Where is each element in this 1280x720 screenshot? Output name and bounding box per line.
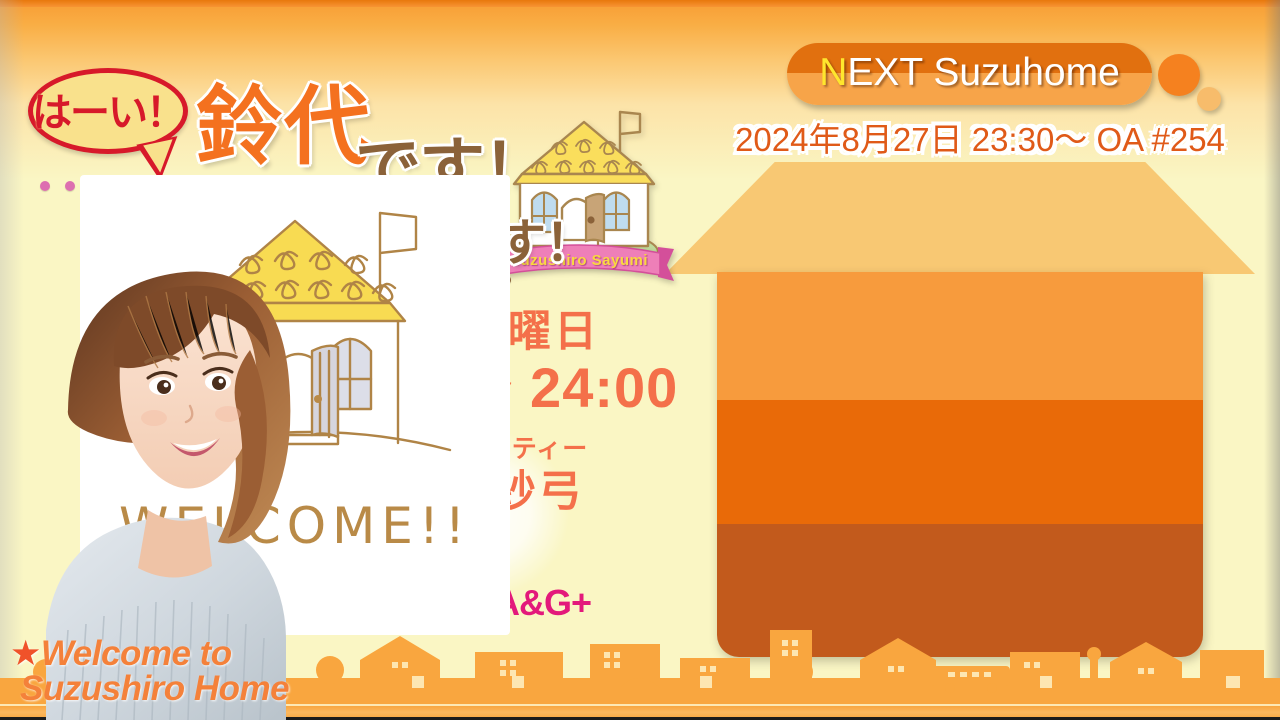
greeting-speech-bubble: はーい！ [28, 68, 188, 154]
decorative-dot-small [1197, 87, 1221, 111]
title-main-kanji: 鈴代 [196, 84, 372, 170]
next-badge-rest: EXT Suzuhome [847, 51, 1119, 94]
star-icon: ★ [10, 634, 41, 673]
welcome-line-1: Welcome to [41, 634, 232, 673]
welcome-corner-text: ★Welcome to Suzushiro Home [10, 636, 289, 706]
welcome-line-2: Suzushiro Home [10, 671, 289, 706]
next-badge-label: NEXT Suzuhome [819, 53, 1120, 92]
house-band-light [717, 272, 1203, 400]
top-border-line [0, 0, 1280, 7]
next-episode-badge[interactable]: NEXT Suzuhome [787, 43, 1152, 105]
house-band-mid [717, 400, 1203, 524]
decorative-dot-large [1158, 54, 1200, 96]
house-frame [665, 162, 1255, 657]
bubble-text: はーい！ [28, 68, 188, 154]
house-body [717, 272, 1203, 657]
airdate-text: 2024年8月27日 23:30〜 OA #254 [700, 113, 1260, 161]
next-badge-initial: N [819, 51, 847, 94]
right-edge-shadow [1264, 0, 1280, 720]
broadcast-program-card: WELCOME!! [0, 0, 1280, 720]
house-roof-shape [665, 162, 1255, 274]
